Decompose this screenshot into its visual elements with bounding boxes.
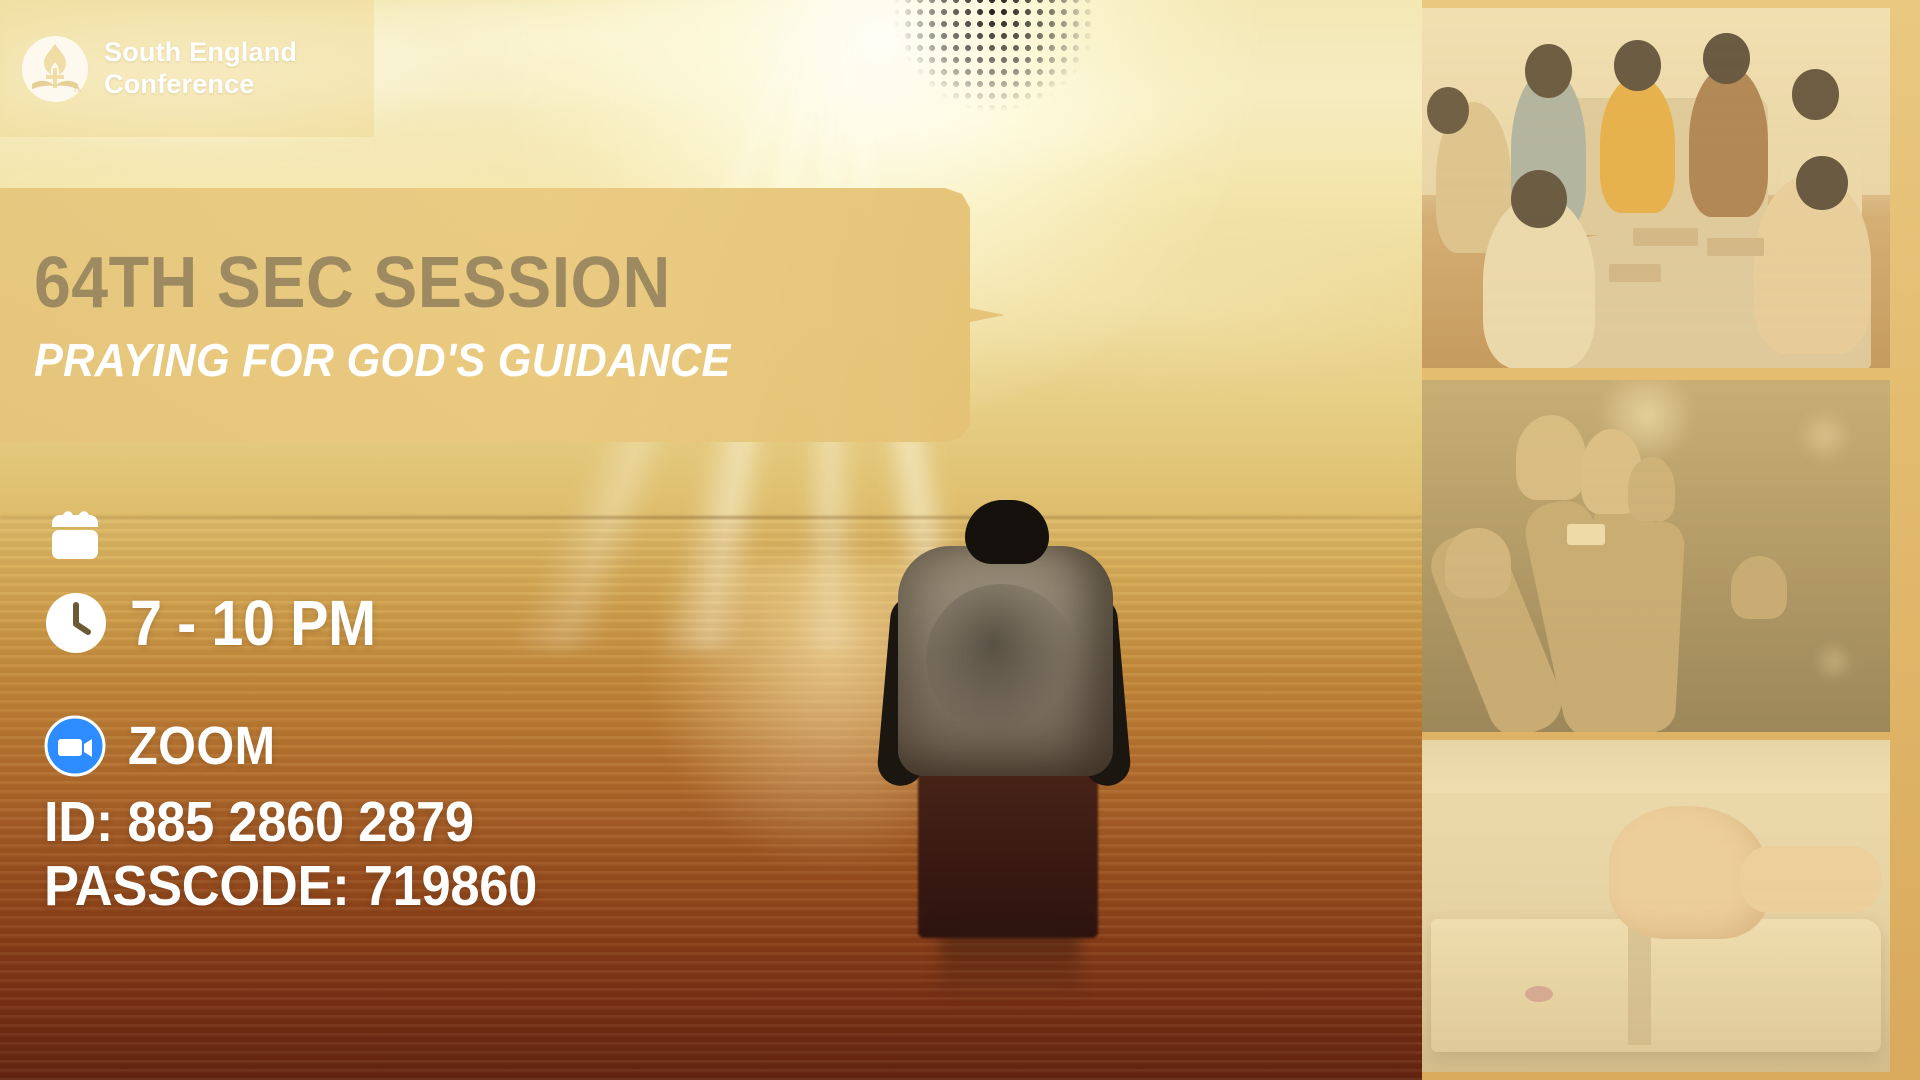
clock-icon xyxy=(44,591,108,655)
zoom-icon xyxy=(44,715,106,777)
event-details: 7 - 10 PM ZOOM ID: 885 2860 2879 PASSCOD… xyxy=(44,505,744,919)
poster: TM South England Conference 64TH SEC SES… xyxy=(0,0,1920,1080)
organisation-header: TM South England Conference xyxy=(0,0,374,137)
photo-strip xyxy=(1422,0,1920,1080)
platform-row: ZOOM xyxy=(44,715,744,777)
time-row: 7 - 10 PM xyxy=(44,591,744,655)
title-banner: 64TH SEC SESSION PRAYING FOR GOD'S GUIDA… xyxy=(0,188,1005,442)
organisation-name: South England Conference xyxy=(104,37,297,99)
date-row xyxy=(44,505,744,567)
meeting-id: ID: 885 2860 2879 xyxy=(44,791,688,855)
svg-text:TM: TM xyxy=(73,87,81,94)
meeting-passcode: PASSCODE: 719860 xyxy=(44,855,688,919)
halftone-dot-grid-icon xyxy=(890,0,1120,149)
organisation-line-2: Conference xyxy=(104,69,297,100)
figure-head xyxy=(965,500,1049,564)
figure-reflection xyxy=(940,920,1080,1000)
group-prayer-circle-photo xyxy=(1422,8,1890,368)
raised-hands-worship-photo xyxy=(1422,380,1890,732)
kneeling-figure xyxy=(870,500,1140,950)
page-title: 64TH SEC SESSION xyxy=(34,247,927,319)
praying-hands-on-bible-photo xyxy=(1422,740,1890,1072)
photo-tint-light xyxy=(1422,740,1890,1072)
page-subtitle: PRAYING FOR GOD'S GUIDANCE xyxy=(34,337,947,383)
figure-lower-body xyxy=(918,758,1098,938)
photo-tint-light xyxy=(1422,8,1890,368)
time-text: 7 - 10 PM xyxy=(130,591,376,655)
photo-tint-light xyxy=(1422,380,1890,732)
figure-torso xyxy=(898,546,1113,776)
sda-flame-book-cross-logo-icon: TM xyxy=(22,36,88,102)
calendar-icon xyxy=(44,505,106,567)
organisation-line-1: South England xyxy=(104,37,297,68)
platform-label: ZOOM xyxy=(128,719,276,773)
